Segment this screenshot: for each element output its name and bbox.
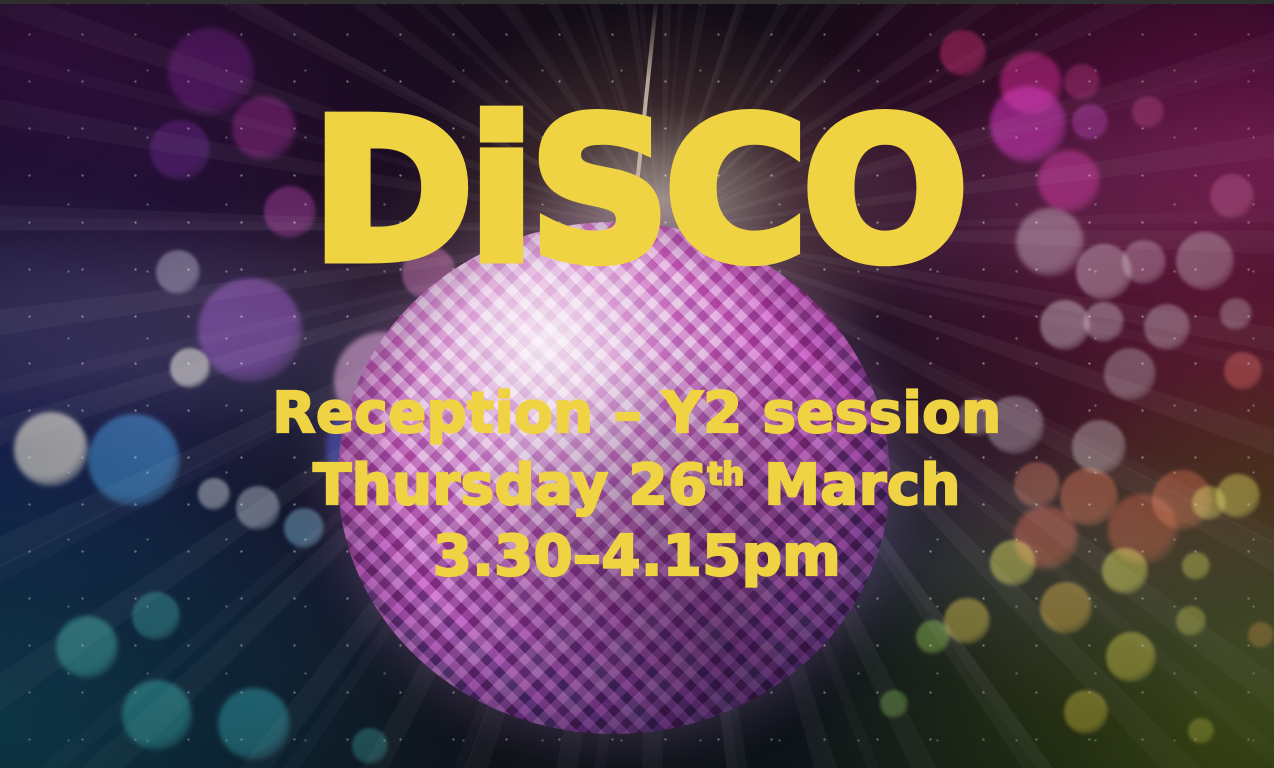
disco-poster: DiSCO Reception – Y2 session Thursday 26… — [0, 0, 1274, 768]
detail-date: Thursday 26th March — [0, 450, 1274, 522]
detail-date-main: Thursday 26 — [313, 453, 707, 518]
poster-title: DiSCO — [0, 96, 1274, 288]
detail-date-month: March — [744, 453, 961, 518]
poster-details: Reception – Y2 session Thursday 26th Mar… — [0, 378, 1274, 593]
detail-audience: Reception – Y2 session — [0, 378, 1274, 450]
detail-date-ordinal: th — [708, 456, 745, 492]
top-edge-band — [0, 0, 1274, 4]
poster-text: DiSCO Reception – Y2 session Thursday 26… — [0, 0, 1274, 768]
detail-time: 3.30–4.15pm — [0, 521, 1274, 593]
